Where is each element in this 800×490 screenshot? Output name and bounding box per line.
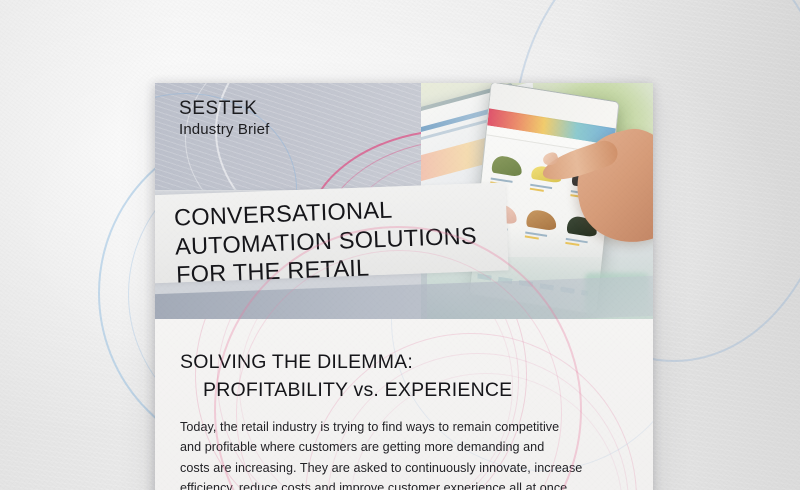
- photo-product-shoe: [491, 155, 523, 178]
- brand-name: SESTEK: [179, 98, 269, 120]
- intro-paragraph-line-3: costs are increasing. They are asked to …: [180, 458, 620, 478]
- photo-product-meta: [530, 184, 560, 196]
- section-heading-line-2: PROFITABILITY vs. EXPERIENCE: [180, 377, 512, 405]
- brand-subtitle: Industry Brief: [179, 120, 269, 140]
- document-title: CONVERSATIONAL AUTOMATION SOLUTIONS FOR …: [174, 190, 537, 289]
- section-heading-profitability: PROFITABILITY: [203, 379, 354, 401]
- intro-paragraph: Today, the retail industry is trying to …: [180, 417, 620, 490]
- brand-block: SESTEK Industry Brief: [179, 98, 269, 140]
- industry-brief-document: SESTEK Industry Brief CONVERSATIONAL AUT…: [155, 83, 653, 490]
- section-heading-vs: vs.: [354, 379, 380, 401]
- intro-paragraph-line-1: Today, the retail industry is trying to …: [180, 417, 620, 437]
- section-heading-experience: EXPERIENCE: [379, 379, 512, 401]
- photo-product-price-line: [565, 241, 579, 245]
- section-heading-line-1: SOLVING THE DILEMMA:: [180, 349, 512, 377]
- intro-paragraph-line-2: and profitable where customers are getti…: [180, 437, 620, 457]
- screenshot-canvas: SESTEK Industry Brief CONVERSATIONAL AUT…: [0, 0, 800, 490]
- document-body: SOLVING THE DILEMMA: PROFITABILITY vs. E…: [155, 319, 653, 490]
- intro-paragraph-line-4: efficiency, reduce costs and improve cus…: [180, 478, 620, 490]
- section-heading: SOLVING THE DILEMMA: PROFITABILITY vs. E…: [180, 349, 512, 404]
- photo-product-meta: [565, 238, 595, 250]
